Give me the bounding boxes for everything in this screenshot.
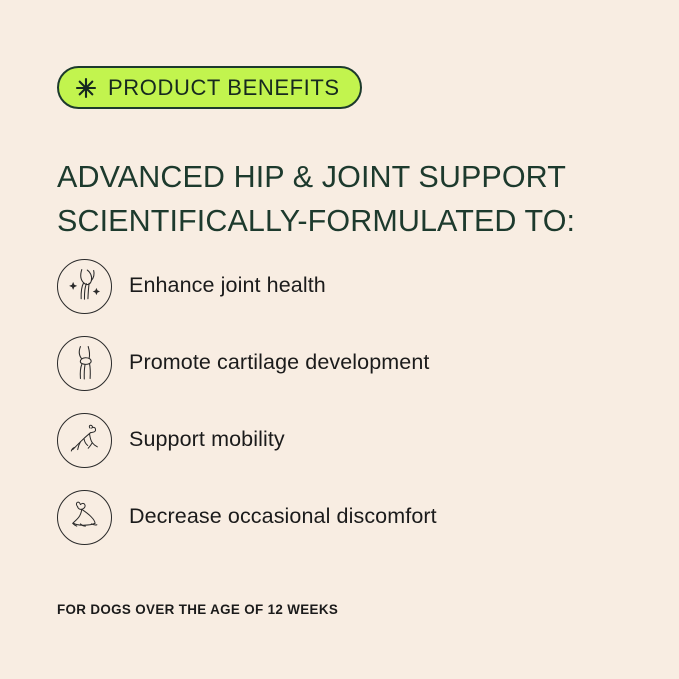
age-disclaimer: FOR DOGS OVER THE AGE OF 12 WEEKS	[57, 602, 338, 617]
running-dog-icon	[57, 413, 112, 468]
page-title: ADVANCED HIP & JOINT SUPPORT SCIENTIFICA…	[57, 156, 637, 243]
list-item: Support mobility	[57, 412, 617, 468]
product-benefits-panel: PRODUCT BENEFITS ADVANCED HIP & JOINT SU…	[0, 0, 679, 679]
knee-joint-cartilage-icon	[57, 336, 112, 391]
headline-line-2: SCIENTIFICALLY-FORMULATED TO:	[57, 200, 637, 243]
asterisk-icon	[75, 77, 97, 99]
benefits-list: Enhance joint health Promote cartilage d…	[57, 258, 617, 566]
badge-label: PRODUCT BENEFITS	[108, 77, 340, 99]
list-item: Enhance joint health	[57, 258, 617, 314]
resting-dog-icon	[57, 490, 112, 545]
headline-line-1: ADVANCED HIP & JOINT SUPPORT	[57, 156, 637, 199]
benefit-label: Support mobility	[129, 427, 285, 453]
list-item: Promote cartilage development	[57, 335, 617, 391]
product-benefits-badge: PRODUCT BENEFITS	[57, 66, 362, 109]
benefit-label: Enhance joint health	[129, 273, 326, 299]
list-item: Decrease occasional discomfort	[57, 489, 617, 545]
benefit-label: Promote cartilage development	[129, 350, 429, 376]
knee-joint-sparkle-icon	[57, 259, 112, 314]
benefit-label: Decrease occasional discomfort	[129, 504, 437, 530]
